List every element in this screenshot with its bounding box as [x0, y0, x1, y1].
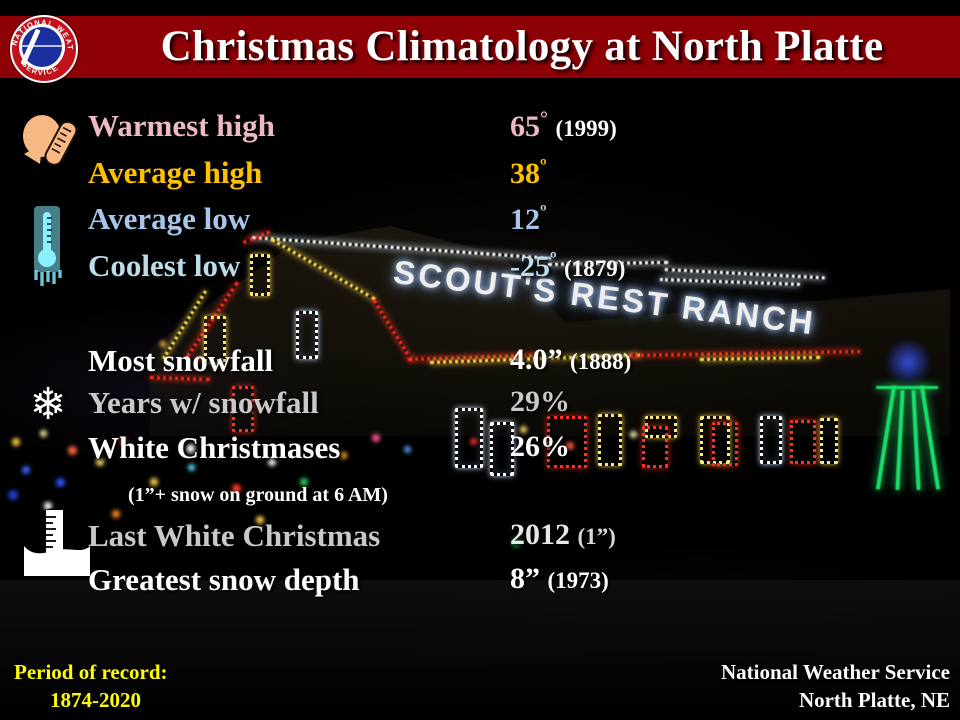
row-year: (1999) [556, 116, 617, 141]
page-title: Christmas Climatology at North Platte [92, 18, 952, 76]
row-value: 38º [510, 155, 547, 191]
row-value: -25º (1879) [510, 248, 625, 284]
row-value: 8” (1973) [510, 562, 609, 596]
row-value: 2012 (1”) [510, 518, 616, 552]
row-value-number: 38 [510, 157, 540, 190]
data-row: Average high 38º [0, 155, 960, 201]
data-row: Last White Christmas 2012 (1”) [0, 518, 960, 564]
row-label: Last White Christmas [88, 518, 380, 554]
infographic-root: SCOUT'S REST RANCH [0, 0, 960, 720]
row-value: 12º [510, 201, 547, 237]
degree-symbol: º [540, 155, 547, 177]
degree-symbol: ° [540, 108, 548, 130]
white-christmas-definition-note: (1”+ snow on ground at 6 AM) [128, 484, 388, 507]
row-value: 29% [510, 385, 570, 419]
row-value-number: 2012 [510, 518, 570, 551]
data-row: Coolest low -25º (1879) [0, 248, 960, 294]
data-row: Warmest high 65° (1999) [0, 108, 960, 154]
degree-symbol: º [540, 201, 547, 223]
row-value-number: 26% [510, 430, 570, 463]
row-year: (1”) [578, 524, 616, 549]
period-of-record-value: 1874-2020 [14, 686, 374, 714]
row-value-number: 65 [510, 110, 540, 143]
bokeh-light [56, 478, 65, 487]
data-row: Greatest snow depth 8” (1973) [0, 562, 960, 608]
data-row: Years w/ snowfall 29% [0, 385, 960, 431]
row-label: Most snowfall [88, 343, 273, 379]
logo-ring-text: NATIONAL WEATHER SERVICE [4, 11, 80, 83]
row-label: Coolest low [88, 248, 240, 284]
row-value: 26% [510, 430, 570, 464]
degree-symbol: º [550, 248, 557, 270]
row-year: (1888) [570, 349, 631, 374]
row-value-number: -25 [510, 250, 550, 283]
period-of-record-label: Period of record: [14, 658, 374, 686]
row-value-number: 4.0” [510, 343, 563, 376]
row-year: (1879) [564, 256, 625, 281]
row-label: White Christmases [88, 430, 340, 466]
row-value-number: 29% [510, 385, 570, 418]
office-credit: National Weather Service North Platte, N… [530, 658, 950, 714]
office-name: National Weather Service [530, 658, 950, 686]
row-value: 65° (1999) [510, 108, 617, 144]
data-row: White Christmases 26% [0, 430, 960, 476]
row-label: Greatest snow depth [88, 562, 360, 598]
office-location: North Platte, NE [530, 686, 950, 714]
data-row: Most snowfall 4.0” (1888) [0, 343, 960, 389]
row-value: 4.0” (1888) [510, 343, 631, 377]
svg-text:SERVICE: SERVICE [20, 59, 60, 77]
data-row: Average low 12º [0, 201, 960, 247]
period-of-record: Period of record: 1874-2020 [14, 658, 374, 714]
bokeh-light [8, 490, 18, 500]
nws-logo: NATIONAL WEATHER SERVICE [4, 14, 80, 80]
svg-text:NATIONAL WEATHER: NATIONAL WEATHER [4, 11, 75, 51]
bokeh-light [112, 510, 120, 518]
row-value-number: 8” [510, 562, 540, 595]
row-label: Average high [88, 155, 262, 191]
row-label: Years w/ snowfall [88, 385, 319, 421]
row-year: (1973) [548, 568, 609, 593]
row-label: Average low [88, 201, 250, 237]
row-value-number: 12 [510, 203, 540, 236]
row-label: Warmest high [88, 108, 275, 144]
